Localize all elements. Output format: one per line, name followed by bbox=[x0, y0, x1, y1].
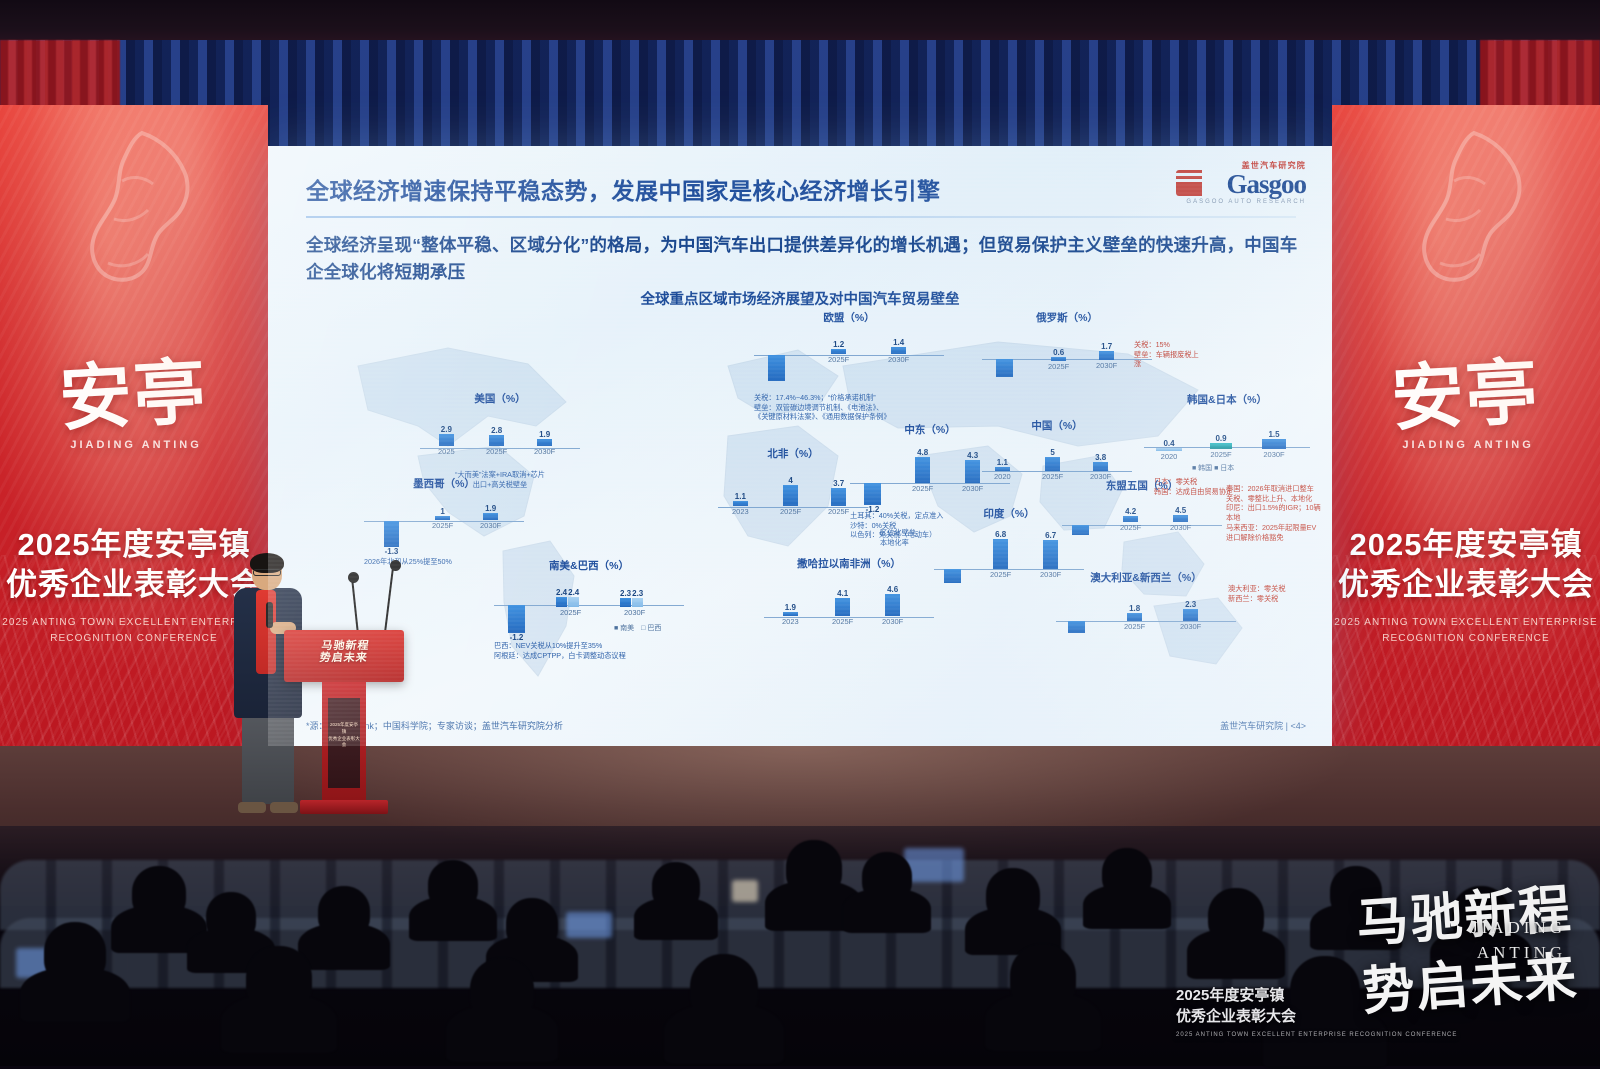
bar bbox=[993, 539, 1008, 569]
region-title: 北非（%） bbox=[718, 446, 868, 461]
bar-value: 4.3 bbox=[967, 452, 978, 460]
bar-label: 2020 bbox=[1161, 453, 1178, 461]
bar bbox=[489, 435, 504, 446]
bar-value: 1.7 bbox=[1101, 343, 1112, 351]
banner-right-calligraphy: 安亭 JIADING ANTING bbox=[1332, 353, 1600, 458]
bar-label: 2025F bbox=[828, 356, 849, 364]
bar bbox=[556, 597, 567, 607]
region-title: 墨西哥（%） bbox=[364, 476, 524, 491]
region-title: 澳大利亚&新西兰（%） bbox=[1056, 570, 1236, 585]
mic-head-icon bbox=[390, 560, 401, 571]
bar-value: 2.9 bbox=[441, 426, 452, 434]
bar bbox=[1156, 448, 1182, 451]
gasgoo-logo-tag: GASGOO AUTO RESEARCH bbox=[1174, 199, 1306, 205]
bar-label: 2025F bbox=[1210, 451, 1231, 459]
region-note: 关税：15% 壁垒：车辆报废税上涨 bbox=[1134, 340, 1204, 369]
region-chart-russia: 俄罗斯（%） 0.6 2025F 1.7 2030F 关税：15% 壁垒：车辆报… bbox=[982, 310, 1152, 383]
banner-left-calligraphy: 安亭 JIADING ANTING bbox=[0, 353, 268, 458]
region-chart-north-africa: 北非（%） 1.1 2023 4 2025F 3.7 2025F bbox=[718, 446, 868, 517]
bar-negative bbox=[508, 605, 525, 633]
bar-value: -1.3 bbox=[385, 548, 399, 556]
bar-negative bbox=[996, 359, 1013, 377]
bar-label: 2023 bbox=[782, 618, 799, 626]
bar-label: 2025 bbox=[438, 448, 455, 456]
bar-value: 4.8 bbox=[917, 449, 928, 457]
bar-value: 1.2 bbox=[833, 341, 844, 349]
bar-label: 2025F bbox=[780, 508, 801, 516]
slide-subtitle: 全球经济呈现“整体平稳、区域分化”的格局，为中国汽车出口提供差异化的增长机遇；但… bbox=[306, 232, 1306, 286]
bar-label: 2030F bbox=[888, 356, 909, 364]
bar-value: 2.3 bbox=[632, 590, 643, 598]
bar-label: 2030F bbox=[1096, 362, 1117, 370]
region-title: 韩国&日本（%） bbox=[1144, 392, 1310, 407]
banner-left-pinyin: JIADING ANTING bbox=[2, 440, 268, 451]
bar-label: 2030F bbox=[962, 485, 983, 493]
banner-right: 安亭 JIADING ANTING 2025年度安亭镇 优秀企业表彰大会 202… bbox=[1332, 105, 1600, 795]
region-legend: ■ 韩国 ■ 日本 bbox=[1192, 463, 1310, 473]
slide-title: 全球经济增速保持平稳态势，发展中国家是核心经济增长引擎 bbox=[306, 172, 1302, 206]
bar bbox=[783, 612, 798, 616]
podium-base bbox=[300, 800, 388, 814]
region-title: 撒哈拉以南非洲（%） bbox=[764, 556, 934, 571]
bar-negative bbox=[1072, 525, 1089, 535]
podium-logo: 马驰新程 势启未来 bbox=[290, 640, 398, 672]
podium-plate-text: 2025年度安亭镇 优秀企业表彰大会 bbox=[328, 722, 360, 749]
bar-value: 4.6 bbox=[887, 586, 898, 594]
bar bbox=[995, 467, 1010, 471]
bar-label: 2020 bbox=[994, 473, 1011, 481]
bar-value: 4.5 bbox=[1175, 507, 1186, 515]
bar bbox=[1210, 443, 1232, 449]
region-title: 南美&巴西（%） bbox=[494, 558, 684, 573]
region-legend: ■ 南美 □ 巴西 bbox=[614, 623, 661, 633]
bar bbox=[1262, 439, 1286, 449]
slide-header: 全球经济增速保持平稳态势，发展中国家是核心经济增长引擎 bbox=[306, 172, 1302, 214]
bar-value: 2.3 bbox=[1185, 601, 1196, 609]
slide-title-rule bbox=[306, 216, 1296, 218]
region-title: 美国（%） bbox=[420, 391, 580, 406]
projection-screen: 全球经济增速保持平稳态势，发展中国家是核心经济增长引擎 盖世汽车研究院 Gasg… bbox=[268, 146, 1332, 746]
bar-label: 2030F bbox=[1180, 623, 1201, 631]
bar-label: 2030F bbox=[534, 448, 555, 456]
region-title: 中国（%） bbox=[982, 418, 1132, 433]
bar-value: 3.8 bbox=[1095, 454, 1106, 462]
bar-negative bbox=[384, 521, 399, 547]
bar-label: 2030F bbox=[882, 618, 903, 626]
bar bbox=[568, 597, 579, 607]
banner-right-subtitle: 2025 ANTING TOWN EXCELLENT ENTERPRISE RE… bbox=[1332, 615, 1600, 647]
bar bbox=[831, 488, 846, 506]
bar-label: 2023 bbox=[732, 508, 749, 516]
region-chart-south-america-brazil: 南美&巴西（%） -1.2 2.4 2.4 202 bbox=[494, 558, 684, 660]
bar bbox=[435, 516, 450, 520]
bar bbox=[632, 598, 643, 607]
banner-right-title: 2025年度安亭镇 优秀企业表彰大会 bbox=[1332, 525, 1600, 604]
audience-phone-screen bbox=[904, 848, 964, 882]
bar-value: 1.5 bbox=[1268, 431, 1279, 439]
bar-label: 2030F bbox=[1170, 524, 1191, 532]
bar bbox=[915, 457, 930, 483]
bar bbox=[1099, 351, 1114, 360]
bar-label: 2025F bbox=[990, 571, 1011, 579]
bar bbox=[965, 460, 980, 483]
region-chart-china: 中国（%） 1.1 2020 5 2025F 3.8 2030F bbox=[982, 418, 1132, 483]
bar-value: 6.8 bbox=[995, 531, 1006, 539]
bar bbox=[891, 347, 906, 354]
bar bbox=[1173, 515, 1188, 522]
bar bbox=[1045, 457, 1060, 471]
bar bbox=[733, 501, 748, 506]
slide-page-footer: 盖世汽车研究院 | <4> bbox=[1220, 719, 1306, 732]
region-note: 巴西：NEV关税从10%提升至35% 阿根廷：达成CPTPP，白卡调整动态议程 bbox=[494, 641, 684, 660]
banner-right-pinyin: JIADING ANTING bbox=[1334, 440, 1600, 451]
bar bbox=[483, 513, 498, 520]
bar bbox=[835, 598, 850, 616]
bar bbox=[831, 349, 846, 354]
region-note: 澳大利亚：零关税 新西兰：零关税 bbox=[1228, 584, 1298, 603]
bar-label: 2025F bbox=[828, 508, 849, 516]
bar-label: 2025F bbox=[1042, 473, 1063, 481]
podium-top: 马驰新程 势启未来 bbox=[284, 630, 404, 682]
region-chart-eu: 欧盟（%） 1.2 2025F 1.4 2030F 关税：17.4%~46.3%… bbox=[754, 310, 944, 422]
bar-label: 2030F bbox=[480, 522, 501, 530]
bar-value: 1.1 bbox=[735, 493, 746, 501]
region-chart-asean: 东盟五国（%） 4.2 2025F 4.5 2030F 泰国：2026年取消进口… bbox=[1062, 478, 1222, 547]
gasgoo-mark-icon bbox=[1176, 170, 1202, 196]
region-title: 东盟五国（%） bbox=[1062, 478, 1222, 493]
bar bbox=[1123, 516, 1138, 522]
region-title: 欧盟（%） bbox=[754, 310, 944, 325]
bar-value: 3.7 bbox=[833, 480, 844, 488]
bar-value: 2.3 bbox=[620, 590, 631, 598]
audience-phone-screen bbox=[566, 912, 612, 938]
bar-value: 1 bbox=[440, 508, 444, 516]
bar-value: 0.9 bbox=[1215, 435, 1226, 443]
bar-label: 2030F bbox=[624, 609, 645, 617]
horse-emblem-icon bbox=[22, 123, 252, 333]
bar-label: 2025F bbox=[1048, 363, 1069, 371]
bar bbox=[537, 439, 552, 446]
region-chart-mexico: 墨西哥（%） -1.3 1 2025F 1.9 2030F 2026 bbox=[364, 476, 524, 567]
mic-head-icon bbox=[348, 572, 359, 583]
bar-value: 4 bbox=[788, 477, 792, 485]
bar-label: 2025F bbox=[832, 618, 853, 626]
bar-value: -1.2 bbox=[510, 634, 524, 642]
bar-negative bbox=[944, 569, 961, 583]
bar-value: 6.7 bbox=[1045, 532, 1056, 540]
bar bbox=[783, 485, 798, 506]
bar-value: 1.1 bbox=[997, 459, 1008, 467]
bar-value: -1.2 bbox=[866, 506, 880, 514]
glasses-icon bbox=[253, 569, 281, 576]
horse-emblem-icon bbox=[1354, 123, 1584, 333]
bar-label: 2025F bbox=[912, 485, 933, 493]
bar-value: 1.9 bbox=[785, 604, 796, 612]
bar bbox=[1051, 357, 1066, 361]
bar bbox=[620, 598, 631, 607]
bar-label: 2025F bbox=[1120, 524, 1141, 532]
podium: 马驰新程 势启未来 2025年度安亭镇 优秀企业表彰大会 bbox=[284, 630, 404, 815]
bar-value: 2.8 bbox=[491, 427, 502, 435]
region-chart-australia-nz: 澳大利亚&新西兰（%） 1.8 2025F 2.3 2030F 澳大利亚：零关税… bbox=[1056, 570, 1236, 639]
bar bbox=[885, 594, 900, 616]
bar-label: 2025F bbox=[486, 448, 507, 456]
bar-value: 2.4 bbox=[556, 589, 567, 597]
bar bbox=[1127, 613, 1142, 621]
bar-value: 0.4 bbox=[1163, 440, 1174, 448]
bar bbox=[1043, 540, 1058, 569]
region-title: 俄罗斯（%） bbox=[982, 310, 1152, 325]
bar-negative bbox=[768, 355, 785, 381]
conference-stage-photo: 安亭 JIADING ANTING 2025年度安亭镇 优秀企业表彰大会 202… bbox=[0, 0, 1600, 1066]
watermark-subtitle: 2025年度安亭镇 优秀企业表彰大会 2025 ANTING TOWN EXCE… bbox=[1176, 966, 1457, 1059]
bar bbox=[1093, 462, 1108, 471]
bar-negative bbox=[864, 483, 881, 505]
bar-value: 1.4 bbox=[893, 339, 904, 347]
bar bbox=[1183, 609, 1198, 621]
bar-value: 0.6 bbox=[1053, 349, 1064, 357]
region-note: 区位化壁垒 本地化率 bbox=[880, 528, 938, 547]
region-note: 泰国：2026年取消进口整车 关税、零整比上升、本地化 印尼：出口1.5%的IG… bbox=[1226, 484, 1322, 542]
bar-value: 2.4 bbox=[568, 589, 579, 597]
bar-negative bbox=[1068, 621, 1085, 633]
bar-label: 2030F bbox=[1263, 451, 1284, 459]
bar-label: 2025F bbox=[432, 522, 453, 530]
bar-value: 5 bbox=[1050, 449, 1054, 457]
bar-value: 4.1 bbox=[837, 590, 848, 598]
bar-value: 1.9 bbox=[539, 431, 550, 439]
handheld-microphone-icon bbox=[266, 602, 273, 628]
region-note: 关税：17.4%~46.3%；“价格承诺机制” 壁垒：双管碳边境调节机制、《电池… bbox=[754, 393, 944, 422]
region-chart-usa: 美国（%） 2.9 2025 2.8 2025F 1.9 2030F bbox=[420, 391, 580, 489]
bar-label: 2025F bbox=[560, 609, 581, 617]
bar bbox=[439, 434, 454, 446]
bar-value: 1.8 bbox=[1129, 605, 1140, 613]
bar-label: 2025F bbox=[1124, 623, 1145, 631]
bar-value: 1.9 bbox=[485, 505, 496, 513]
watermark-subtitle-en: 2025 ANTING TOWN EXCELLENT ENTERPRISE RE… bbox=[1176, 1031, 1457, 1039]
bar-value: 4.2 bbox=[1125, 508, 1136, 516]
gasgoo-logo: 盖世汽车研究院 Gasgoo GASGOO AUTO RESEARCH bbox=[1174, 160, 1306, 208]
audience-phone-screen bbox=[732, 880, 758, 902]
event-watermark: 马驰新程 JIADINGANTING 势启未来 2025年度安亭镇 优秀企业表彰… bbox=[1158, 870, 1578, 1040]
region-chart-sub-saharan-africa: 撒哈拉以南非洲（%） 1.9 2023 4.1 2025F 4.6 2030F bbox=[764, 556, 934, 627]
